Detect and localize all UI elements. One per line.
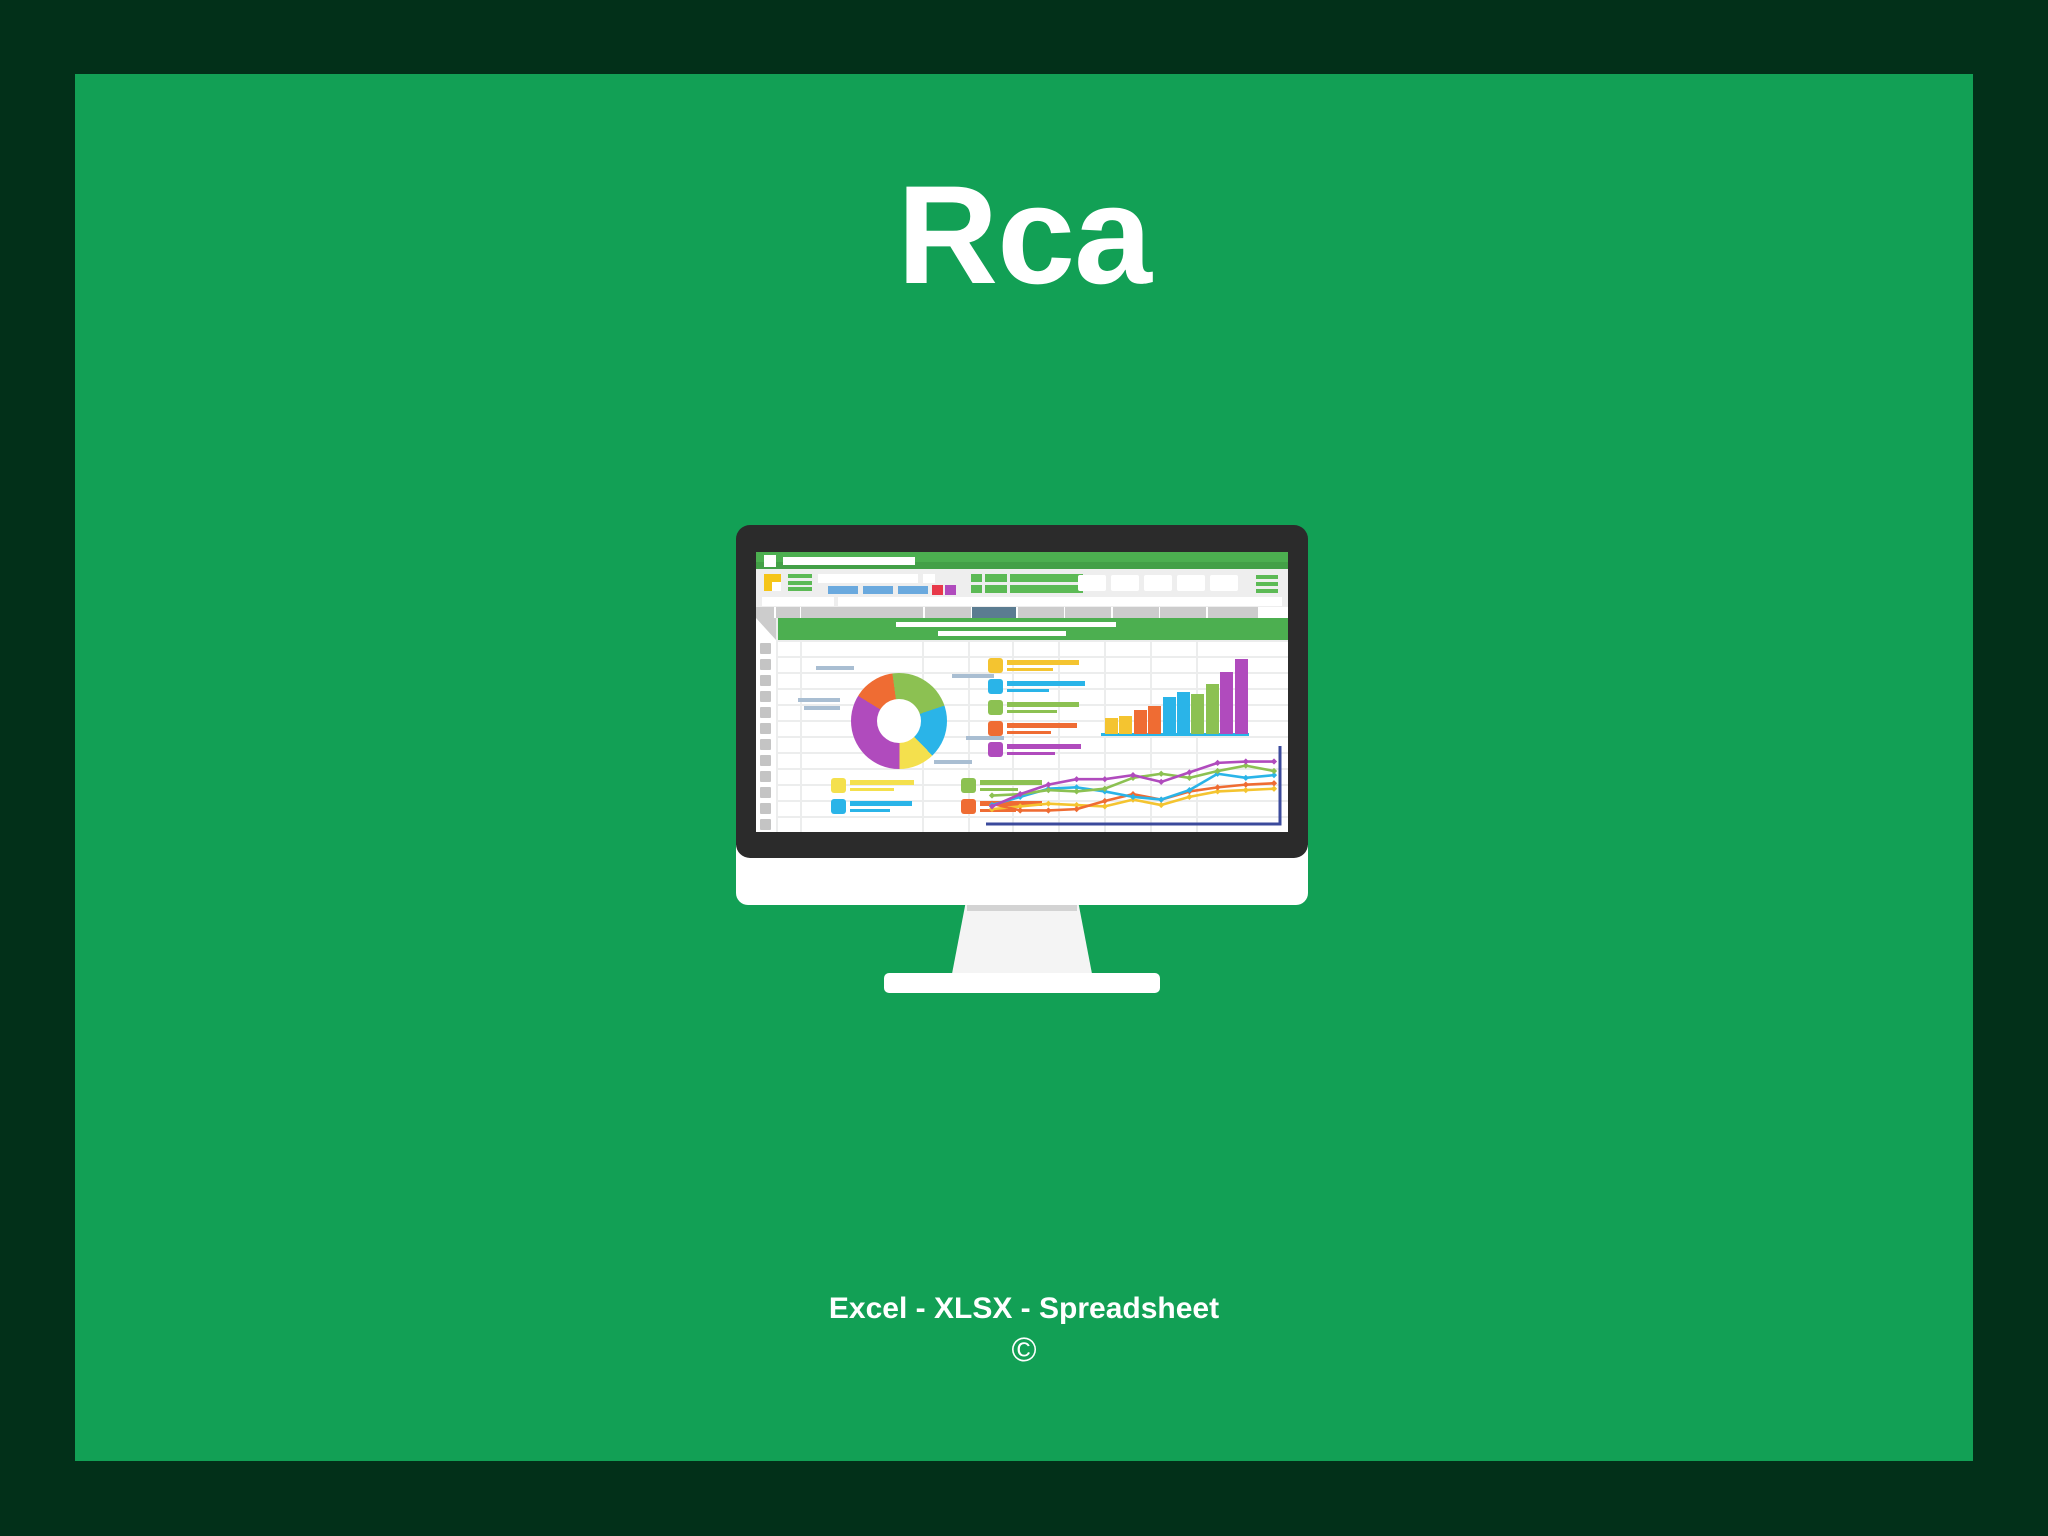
line-marker	[1271, 768, 1277, 774]
column-chart-bar	[1220, 672, 1233, 734]
line-marker	[1243, 775, 1249, 781]
column-chart-bar	[1119, 716, 1132, 734]
line-marker	[1243, 787, 1249, 793]
sheet-title-banner	[778, 618, 1288, 640]
donut-label-line	[816, 666, 854, 670]
line-marker	[989, 792, 995, 798]
border-group[interactable]	[863, 586, 893, 594]
row-header-cell[interactable]	[760, 691, 771, 702]
row-header-cell[interactable]	[760, 819, 771, 830]
donut-label-line	[934, 760, 972, 764]
legend-label-line	[1007, 668, 1053, 671]
menu-hamburger-icon[interactable]	[1256, 575, 1278, 592]
formula-input[interactable]	[838, 597, 1282, 606]
styles-button-2[interactable]	[1111, 575, 1139, 591]
formula-bar[interactable]	[756, 596, 1288, 607]
styles-button-1[interactable]	[1078, 575, 1106, 591]
row-header-cell[interactable]	[760, 675, 771, 686]
font-color-icon[interactable]	[945, 585, 956, 595]
legend-swatch	[961, 778, 976, 793]
line-marker	[1214, 760, 1220, 766]
legend-label-line	[1007, 660, 1079, 665]
styles-button-3[interactable]	[1144, 575, 1172, 591]
line-marker	[1045, 782, 1051, 788]
spreadsheet-grid[interactable]	[756, 618, 1288, 832]
row-header-cell[interactable]	[760, 659, 771, 670]
row-header-cell[interactable]	[760, 723, 771, 734]
legend-label-line	[1007, 689, 1049, 692]
column-chart-bar	[1134, 710, 1147, 734]
line-marker	[1158, 802, 1164, 808]
line-marker	[1271, 786, 1277, 792]
legend-label-line	[1007, 702, 1079, 707]
column-header-f[interactable]	[1065, 607, 1111, 618]
column-header-e[interactable]	[1018, 607, 1064, 618]
line-marker	[1073, 788, 1079, 794]
legend-label-line	[850, 801, 912, 806]
legend-label-line	[1007, 731, 1051, 734]
column-chart-bar	[1235, 659, 1248, 734]
font-size-field[interactable]	[923, 574, 935, 583]
page-title: Rca	[0, 165, 2048, 305]
legend-swatch	[831, 799, 846, 814]
line-marker	[1271, 780, 1277, 786]
row-header-gutter[interactable]	[756, 618, 776, 832]
line-marker	[1045, 807, 1051, 813]
column-header-b[interactable]	[801, 607, 923, 618]
line-marker	[1158, 771, 1164, 777]
column-header-i[interactable]	[1208, 607, 1258, 618]
column-header-d-selected[interactable]	[972, 607, 1016, 618]
row-header-cell[interactable]	[760, 643, 771, 654]
column-header-c[interactable]	[925, 607, 971, 618]
legend-label-line	[1007, 710, 1057, 713]
monitor-stand	[951, 905, 1093, 979]
line-marker	[1158, 796, 1164, 802]
monitor-stand-top-shadow	[967, 905, 1077, 911]
styles-button-4[interactable]	[1177, 575, 1205, 591]
column-chart-bar	[1206, 684, 1219, 734]
alignment-group[interactable]	[898, 586, 928, 594]
row-header-cell[interactable]	[760, 707, 771, 718]
monitor-screen	[756, 552, 1288, 832]
column-header-row[interactable]	[756, 607, 1288, 618]
clipboard-options-icon[interactable]	[788, 574, 812, 591]
line-marker	[1186, 775, 1192, 781]
legend-swatch	[988, 658, 1003, 673]
line-marker	[1271, 758, 1277, 764]
line-marker	[1243, 758, 1249, 764]
select-all-corner-icon[interactable]	[756, 618, 776, 640]
paste-icon[interactable]	[764, 574, 781, 591]
legend-swatch	[988, 679, 1003, 694]
column-chart-bar	[1191, 694, 1204, 734]
row-header-cell[interactable]	[760, 739, 771, 750]
line-marker	[1186, 769, 1192, 775]
line-chart	[986, 738, 1286, 828]
column-header-h[interactable]	[1160, 607, 1206, 618]
legend-label-line	[850, 788, 894, 791]
legend-swatch	[988, 721, 1003, 736]
column-chart-bar	[1163, 697, 1176, 734]
column-chart-bar	[1177, 692, 1190, 734]
line-marker	[1186, 794, 1192, 800]
column-header-g[interactable]	[1113, 607, 1159, 618]
column-chart	[1101, 650, 1249, 738]
line-marker	[1073, 776, 1079, 782]
donut-label-line	[804, 706, 840, 710]
column-header-corner[interactable]	[756, 607, 774, 618]
poster-footer: Excel - XLSX - Spreadsheet ©	[0, 1292, 2048, 1376]
line-marker	[1214, 784, 1220, 790]
app-ribbon-toolbar[interactable]	[756, 569, 1288, 596]
line-marker	[1158, 779, 1164, 785]
line-chart-svg	[986, 738, 1286, 828]
column-header-a[interactable]	[776, 607, 800, 618]
document-title-placeholder	[783, 557, 915, 565]
line-marker	[1017, 807, 1023, 813]
line-marker	[1102, 776, 1108, 782]
copyright-icon: ©	[0, 1325, 2048, 1376]
column-chart-bar	[1148, 706, 1161, 734]
row-header-cell[interactable]	[760, 787, 771, 798]
monitor-bezel	[736, 525, 1308, 858]
legend-label-line	[850, 809, 890, 812]
poster-canvas: Rca	[0, 0, 2048, 1536]
row-header-cell[interactable]	[760, 803, 771, 814]
legend-swatch	[988, 700, 1003, 715]
number-format-group[interactable]	[971, 574, 1083, 596]
row-header-cell[interactable]	[760, 755, 771, 766]
legend-label-line	[850, 780, 914, 785]
donut-label-line	[952, 674, 994, 678]
legend-swatch	[961, 799, 976, 814]
line-marker	[1073, 806, 1079, 812]
line-marker	[1102, 803, 1108, 809]
legend-label-line	[1007, 681, 1085, 686]
donut-chart	[851, 673, 947, 769]
legend-label-line	[1007, 723, 1077, 728]
app-logo-icon	[764, 555, 776, 567]
line-marker	[1243, 782, 1249, 788]
monitor-base	[884, 973, 1160, 993]
donut-label-line	[798, 698, 840, 702]
line-marker	[1102, 798, 1108, 804]
desktop-monitor-illustration	[736, 525, 1308, 1010]
bold-italic-underline-group[interactable]	[828, 586, 858, 594]
footer-label: Excel - XLSX - Spreadsheet	[0, 1292, 2048, 1325]
fill-color-icon[interactable]	[932, 585, 943, 595]
column-chart-bar	[1105, 718, 1118, 734]
styles-button-5[interactable]	[1210, 575, 1238, 591]
row-header-cell[interactable]	[760, 771, 771, 782]
app-title-bar	[756, 552, 1288, 569]
font-name-field[interactable]	[818, 574, 918, 583]
line-marker	[1045, 801, 1051, 807]
legend-swatch	[831, 778, 846, 793]
name-box-input[interactable]	[762, 597, 834, 606]
